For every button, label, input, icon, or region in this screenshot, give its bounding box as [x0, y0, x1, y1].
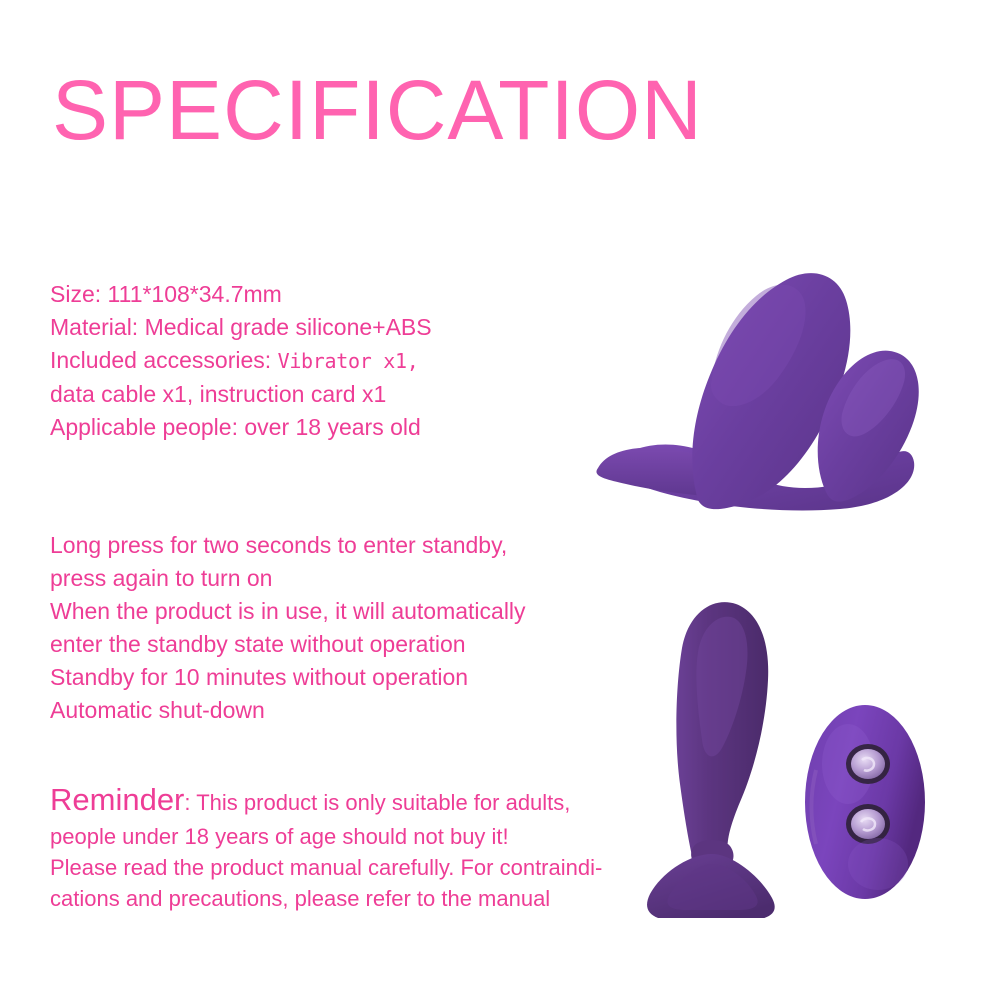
product-image-remote-control [800, 702, 930, 902]
usage-line-1: Long press for two seconds to enter stan… [50, 529, 526, 562]
reminder-heading: Reminder [50, 782, 184, 817]
spec-line-applicable-people: Applicable people: over 18 years old [50, 411, 432, 444]
spec-line-accessories: Included accessories: Vibrator x1, [50, 344, 432, 378]
specification-infographic: SPECIFICATION Size: 111*108*34.7mm Mater… [0, 0, 1000, 1000]
remote-upper-button[interactable] [846, 744, 890, 784]
reminder-line-3: Please read the product manual carefully… [50, 852, 602, 883]
spec-line-size: Size: 111*108*34.7mm [50, 278, 432, 311]
product-image-main-vibrator [590, 200, 950, 520]
remote-control-icon [800, 702, 930, 902]
usage-line-3: When the product is in use, it will auto… [50, 595, 526, 628]
usage-line-6: Automatic shut-down [50, 694, 526, 727]
reminder-first-line: Reminder: This product is only suitable … [50, 782, 602, 821]
remote-lower-gloss [848, 838, 908, 890]
specification-text-block: Size: 111*108*34.7mm Material: Medical g… [50, 278, 432, 444]
product-image-plug [620, 588, 820, 918]
usage-instructions-block: Long press for two seconds to enter stan… [50, 529, 526, 727]
remote-lower-button[interactable] [846, 804, 890, 844]
accessories-label: Included accessories: [50, 347, 271, 373]
flared-base-plug-icon [620, 588, 820, 918]
reminder-block: Reminder: This product is only suitable … [50, 782, 602, 914]
reminder-line-2: people under 18 years of age should not … [50, 821, 602, 852]
usage-line-2: press again to turn on [50, 562, 526, 595]
spec-line-accessories-cont: data cable x1, instruction card x1 [50, 378, 432, 411]
three-prong-vibrator-icon [590, 200, 950, 520]
page-title: SPECIFICATION [52, 62, 703, 158]
spec-line-material: Material: Medical grade silicone+ABS [50, 311, 432, 344]
reminder-line-4: cations and precautions, please refer to… [50, 883, 602, 914]
usage-line-5: Standby for 10 minutes without operation [50, 661, 526, 694]
reminder-first-line-rest: : This product is only suitable for adul… [184, 790, 570, 815]
usage-line-4: enter the standby state without operatio… [50, 628, 526, 661]
accessories-value: Vibrator x1, [278, 349, 419, 373]
